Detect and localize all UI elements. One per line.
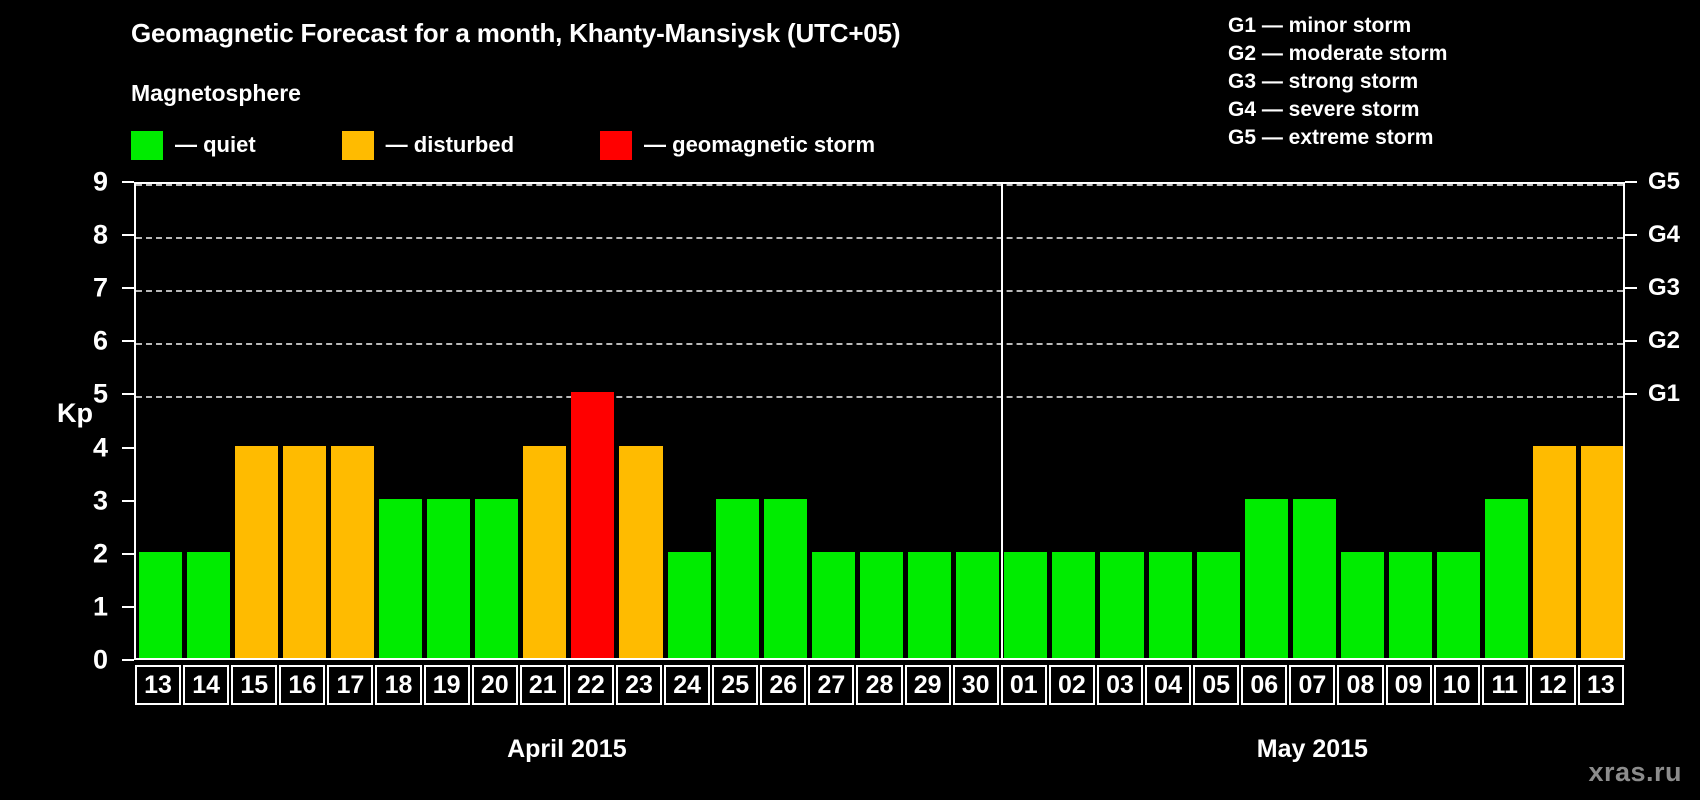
g-scale-key-row-1: G1 — minor storm	[1228, 12, 1447, 40]
bar-03[interactable]	[1100, 552, 1143, 658]
bar-14[interactable]	[187, 552, 230, 658]
g-tick-label-G4: G4	[1648, 221, 1680, 249]
date-label-22[interactable]: 05	[1193, 665, 1239, 705]
date-label-24[interactable]: 07	[1289, 665, 1335, 705]
y-tick-label-4: 4	[93, 432, 108, 463]
bar-28[interactable]	[860, 552, 903, 658]
watermark: xras.ru	[1588, 757, 1682, 788]
g-scale-axis: G1G2G3G4G5	[1625, 182, 1700, 660]
date-label-8[interactable]: 21	[520, 665, 566, 705]
month-label-2: May 2015	[1257, 735, 1368, 764]
date-label-17[interactable]: 30	[953, 665, 999, 705]
plot-area	[134, 182, 1625, 660]
bar-04[interactable]	[1149, 552, 1192, 658]
y-tick-mark-7	[122, 287, 134, 289]
legend: — quiet — disturbed — geomagnetic storm	[131, 130, 875, 160]
date-label-14[interactable]: 27	[808, 665, 854, 705]
legend-swatch-disturbed-icon	[342, 131, 374, 160]
y-tick-mark-8	[122, 234, 134, 236]
g-scale-key-row-4: G4 — severe storm	[1228, 96, 1447, 124]
date-label-23[interactable]: 06	[1241, 665, 1287, 705]
bar-18[interactable]	[379, 499, 422, 658]
y-tick-mark-9	[122, 181, 134, 183]
g-scale-key: G1 — minor stormG2 — moderate stormG3 — …	[1228, 12, 1447, 152]
date-label-4[interactable]: 17	[327, 665, 373, 705]
date-label-30[interactable]: 13	[1578, 665, 1624, 705]
y-tick-label-2: 2	[93, 538, 108, 569]
legend-label-geomagnetic-storm: — geomagnetic storm	[644, 132, 875, 158]
bar-10[interactable]	[1437, 552, 1480, 658]
g-scale-key-row-2: G2 — moderate storm	[1228, 40, 1447, 68]
date-label-18[interactable]: 01	[1001, 665, 1047, 705]
bar-19[interactable]	[427, 499, 470, 658]
g-tick-mark-G3	[1625, 287, 1637, 289]
y-axis: 0123456789	[0, 182, 134, 660]
date-label-27[interactable]: 10	[1434, 665, 1480, 705]
date-label-9[interactable]: 22	[568, 665, 614, 705]
date-label-29[interactable]: 12	[1530, 665, 1576, 705]
legend-swatch-quiet-icon	[131, 131, 163, 160]
date-label-21[interactable]: 04	[1145, 665, 1191, 705]
date-label-1[interactable]: 14	[183, 665, 229, 705]
legend-item-geomagnetic-storm: — geomagnetic storm	[600, 131, 875, 160]
date-label-16[interactable]: 29	[905, 665, 951, 705]
date-label-20[interactable]: 03	[1097, 665, 1143, 705]
y-tick-label-3: 3	[93, 485, 108, 516]
bar-07[interactable]	[1293, 499, 1336, 658]
g-tick-label-G5: G5	[1648, 168, 1680, 196]
date-label-26[interactable]: 09	[1386, 665, 1432, 705]
y-tick-label-8: 8	[93, 220, 108, 251]
date-label-12[interactable]: 25	[712, 665, 758, 705]
y-tick-label-0: 0	[93, 645, 108, 676]
bar-30[interactable]	[956, 552, 999, 658]
bar-21[interactable]	[523, 446, 566, 658]
bars-layer	[136, 184, 1623, 658]
bar-29[interactable]	[908, 552, 951, 658]
y-tick-label-1: 1	[93, 591, 108, 622]
month-label-1: April 2015	[507, 735, 627, 764]
legend-label-quiet: — quiet	[175, 132, 256, 158]
bar-06[interactable]	[1245, 499, 1288, 658]
y-tick-mark-0	[122, 659, 134, 661]
legend-item-disturbed: — disturbed	[342, 131, 514, 160]
date-label-13[interactable]: 26	[760, 665, 806, 705]
bar-08[interactable]	[1341, 552, 1384, 658]
g-scale-key-row-5: G5 — extreme storm	[1228, 124, 1447, 152]
page-title: Geomagnetic Forecast for a month, Khanty…	[131, 18, 900, 49]
y-tick-mark-4	[122, 447, 134, 449]
date-label-15[interactable]: 28	[856, 665, 902, 705]
y-tick-mark-1	[122, 606, 134, 608]
date-label-10[interactable]: 23	[616, 665, 662, 705]
y-tick-label-7: 7	[93, 273, 108, 304]
g-tick-mark-G1	[1625, 393, 1637, 395]
date-axis-labels: 1314151617181920212223242526272829300102…	[134, 665, 1625, 705]
bar-09[interactable]	[1389, 552, 1432, 658]
date-label-2[interactable]: 15	[231, 665, 277, 705]
bar-12[interactable]	[1533, 446, 1576, 658]
g-tick-mark-G5	[1625, 181, 1637, 183]
y-tick-mark-3	[122, 500, 134, 502]
g-scale-key-row-3: G3 — strong storm	[1228, 68, 1447, 96]
bar-23[interactable]	[619, 446, 662, 658]
date-label-5[interactable]: 18	[375, 665, 421, 705]
g-tick-mark-G2	[1625, 340, 1637, 342]
bar-22[interactable]	[571, 392, 614, 658]
date-label-25[interactable]: 08	[1337, 665, 1383, 705]
bar-15[interactable]	[235, 446, 278, 658]
bar-25[interactable]	[716, 499, 759, 658]
date-label-19[interactable]: 02	[1049, 665, 1095, 705]
bar-24[interactable]	[668, 552, 711, 658]
bar-02[interactable]	[1052, 552, 1095, 658]
y-tick-mark-6	[122, 340, 134, 342]
y-tick-label-6: 6	[93, 326, 108, 357]
date-label-3[interactable]: 16	[279, 665, 325, 705]
legend-swatch-storm-icon	[600, 131, 632, 160]
bar-11[interactable]	[1485, 499, 1528, 658]
month-separator	[1001, 184, 1003, 658]
date-label-0[interactable]: 13	[135, 665, 181, 705]
plot-inner	[136, 184, 1623, 658]
date-label-28[interactable]: 11	[1482, 665, 1528, 705]
magnetosphere-section-label: Magnetosphere	[131, 80, 301, 107]
bar-17[interactable]	[331, 446, 374, 658]
y-tick-mark-2	[122, 553, 134, 555]
date-label-6[interactable]: 19	[424, 665, 470, 705]
bar-16[interactable]	[283, 446, 326, 658]
g-tick-label-G3: G3	[1648, 274, 1680, 302]
g-tick-mark-G4	[1625, 234, 1637, 236]
date-label-11[interactable]: 24	[664, 665, 710, 705]
bar-26[interactable]	[764, 499, 807, 658]
legend-item-quiet: — quiet	[131, 131, 256, 160]
bar-05[interactable]	[1197, 552, 1240, 658]
bar-13[interactable]	[1581, 446, 1623, 658]
bar-20[interactable]	[475, 499, 518, 658]
bar-13[interactable]	[139, 552, 182, 658]
legend-label-disturbed: — disturbed	[386, 132, 514, 158]
bar-01[interactable]	[1004, 552, 1047, 658]
y-tick-mark-5	[122, 393, 134, 395]
g-tick-label-G2: G2	[1648, 327, 1680, 355]
y-tick-label-9: 9	[93, 167, 108, 198]
date-label-7[interactable]: 20	[472, 665, 518, 705]
g-tick-label-G1: G1	[1648, 380, 1680, 408]
bar-27[interactable]	[812, 552, 855, 658]
y-tick-label-5: 5	[93, 379, 108, 410]
